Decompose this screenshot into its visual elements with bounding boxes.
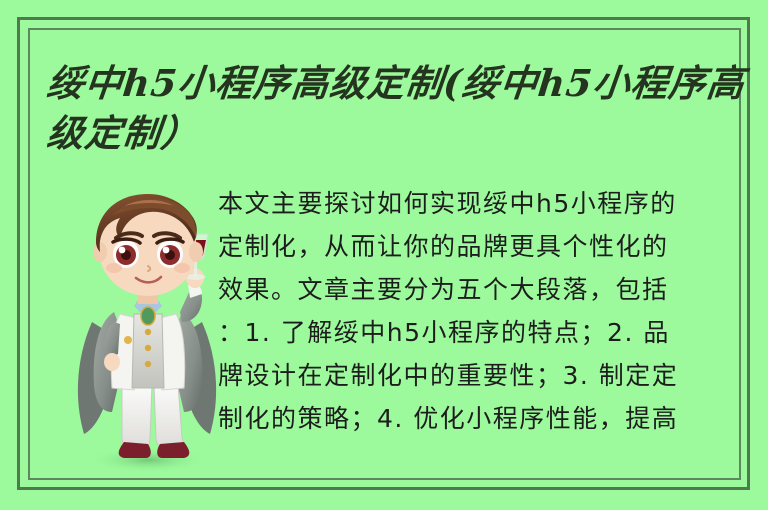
page-title-line-2: 级定制）	[44, 108, 729, 158]
article-body-line-3: 效果。文章主要分为五个大段落，包括	[218, 268, 733, 311]
chibi-man-with-wine-glass-illustration	[62, 172, 234, 472]
article-body: 本文主要探讨如何实现绥中h5小程序的 定制化，从而让你的品牌更具个性化的 效果。…	[218, 182, 733, 440]
article-body-line-5: 牌设计在定制化中的重要性；3. 制定定	[218, 354, 733, 397]
article-body-line-6: 制化的策略；4. 优化小程序性能，提高	[218, 397, 733, 440]
page-title: 绥中h5小程序高级定制(绥中h5小程序高 级定制）	[47, 58, 727, 158]
article-body-line-4: ：1. 了解绥中h5小程序的特点；2. 品	[218, 311, 733, 354]
article-card: 绥中h5小程序高级定制(绥中h5小程序高 级定制）	[0, 0, 768, 510]
page-title-line-1: 绥中h5小程序高级定制(绥中h5小程序高	[44, 58, 729, 108]
article-body-line-2: 定制化，从而让你的品牌更具个性化的	[218, 225, 733, 268]
article-body-line-1: 本文主要探讨如何实现绥中h5小程序的	[218, 182, 733, 225]
